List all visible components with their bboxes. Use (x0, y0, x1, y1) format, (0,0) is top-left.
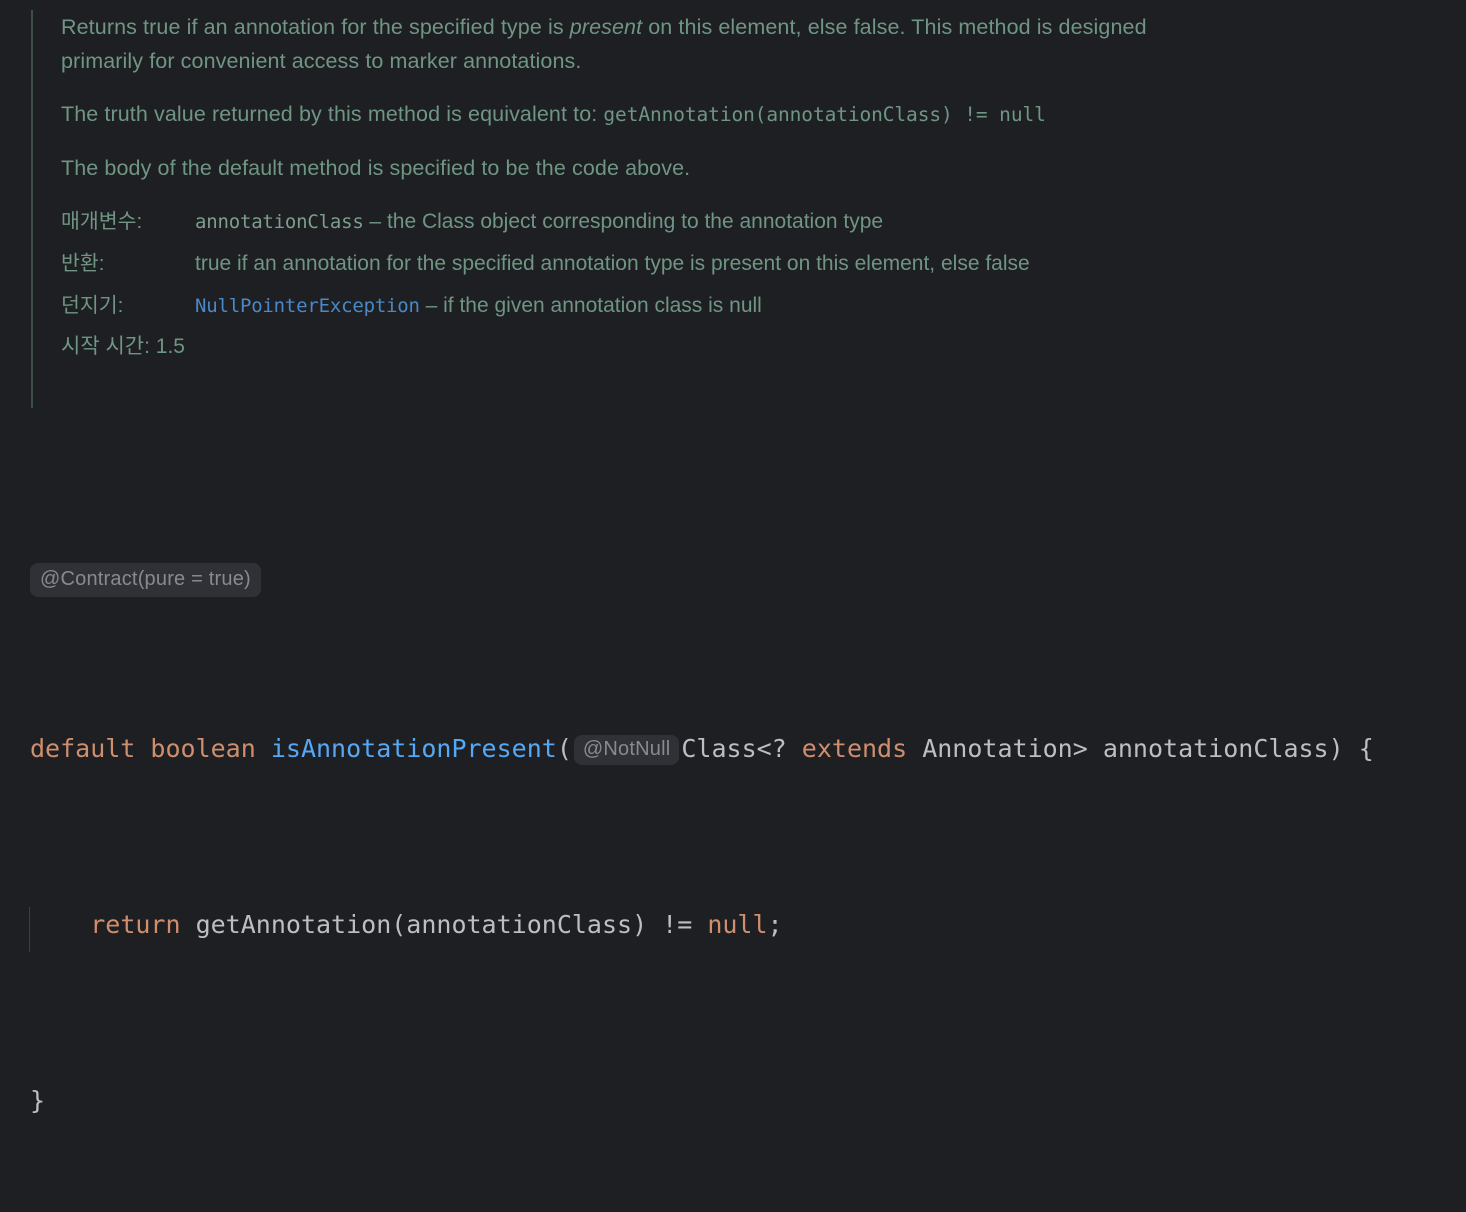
tag-since-text: 시작 시간: 1.5 (61, 335, 185, 358)
tag-row-throws: 던지기: NullPointerException – if the given… (61, 285, 1030, 327)
tag-value-params: annotationClass – the Class object corre… (195, 201, 1030, 243)
keyword-boolean: boolean (150, 734, 255, 763)
open-paren: ( (557, 734, 572, 763)
javadoc-tag-table: 매개변수: annotationClass – the Class object… (61, 201, 1030, 367)
body-indent (30, 910, 90, 939)
tag-value-returns: true if an annotation for the specified … (195, 243, 1030, 285)
doc-paragraph-2: The truth value returned by this method … (61, 97, 1246, 132)
param-description: the Class object corresponding to the an… (387, 210, 883, 233)
doc-paragraph-1-emphasis: present (570, 15, 642, 39)
tag-row-params: 매개변수: annotationClass – the Class object… (61, 201, 1030, 243)
tag-row-returns: 반환: true if an annotation for the specif… (61, 243, 1030, 285)
tag-label-params: 매개변수: (61, 201, 195, 243)
doc-paragraph-3: The body of the default method is specif… (61, 151, 1211, 185)
tag-label-returns: 반환: (61, 243, 195, 285)
throws-description: if the given annotation class is null (443, 294, 762, 317)
doc-paragraph-2-inline-code: getAnnotation(annotationClass) != null (603, 103, 1045, 126)
throws-dash: – (420, 294, 443, 317)
close-paren: ) (1329, 734, 1344, 763)
documentation-popup: Returns true if an annotation for the sp… (0, 0, 1466, 606)
code-line-closing-brace: } (0, 1079, 1466, 1123)
doc-paragraph-1-part-a: Returns true if an annotation for the sp… (61, 15, 570, 39)
body-expression: getAnnotation(annotationClass) (181, 910, 663, 939)
code-line-signature: default boolean isAnnotationPresent(@Not… (0, 727, 1466, 771)
keyword-extends: extends (802, 734, 907, 763)
doc-paragraph-2-lead: The truth value returned by this method … (61, 102, 603, 126)
keyword-return: return (90, 910, 180, 939)
doc-body: Returns true if an annotation for the sp… (33, 10, 1466, 367)
keyword-null: null (707, 910, 767, 939)
code-line-annotation: @Contract(pure = true) (0, 557, 1466, 595)
tag-since-cell: 시작 시간: 1.5 (61, 327, 1030, 367)
space-1 (135, 734, 150, 763)
indent-guide (29, 907, 30, 952)
space-2 (256, 734, 271, 763)
param-type-b: Annotation> annotationClass (907, 734, 1328, 763)
tag-row-since: 시작 시간: 1.5 (61, 327, 1030, 367)
notnull-annotation-badge: @NotNull (574, 735, 679, 765)
doc-paragraph-1: Returns true if an annotation for the sp… (61, 10, 1211, 78)
code-preview-section: @Contract(pure = true) default boolean i… (0, 425, 1466, 1212)
operator-not-equal: != (662, 910, 707, 939)
semicolon: ; (768, 910, 783, 939)
method-name[interactable]: isAnnotationPresent (271, 734, 557, 763)
tag-value-throws: NullPointerException – if the given anno… (195, 285, 1030, 327)
contract-annotation-badge: @Contract(pure = true) (30, 563, 261, 597)
code-line-body: return getAnnotation(annotationClass) !=… (0, 903, 1466, 947)
tag-label-throws: 던지기: (61, 285, 195, 327)
exception-link[interactable]: NullPointerException (195, 295, 420, 317)
param-name-ref: annotationClass (195, 211, 364, 233)
brace-open: { (1344, 734, 1374, 763)
param-dash: – (364, 210, 387, 233)
param-type-a: Class<? (681, 734, 801, 763)
javadoc-description-section: Returns true if an annotation for the sp… (0, 10, 1466, 367)
keyword-default: default (30, 734, 135, 763)
closing-brace: } (30, 1086, 45, 1115)
doc-left-rule (31, 10, 33, 408)
